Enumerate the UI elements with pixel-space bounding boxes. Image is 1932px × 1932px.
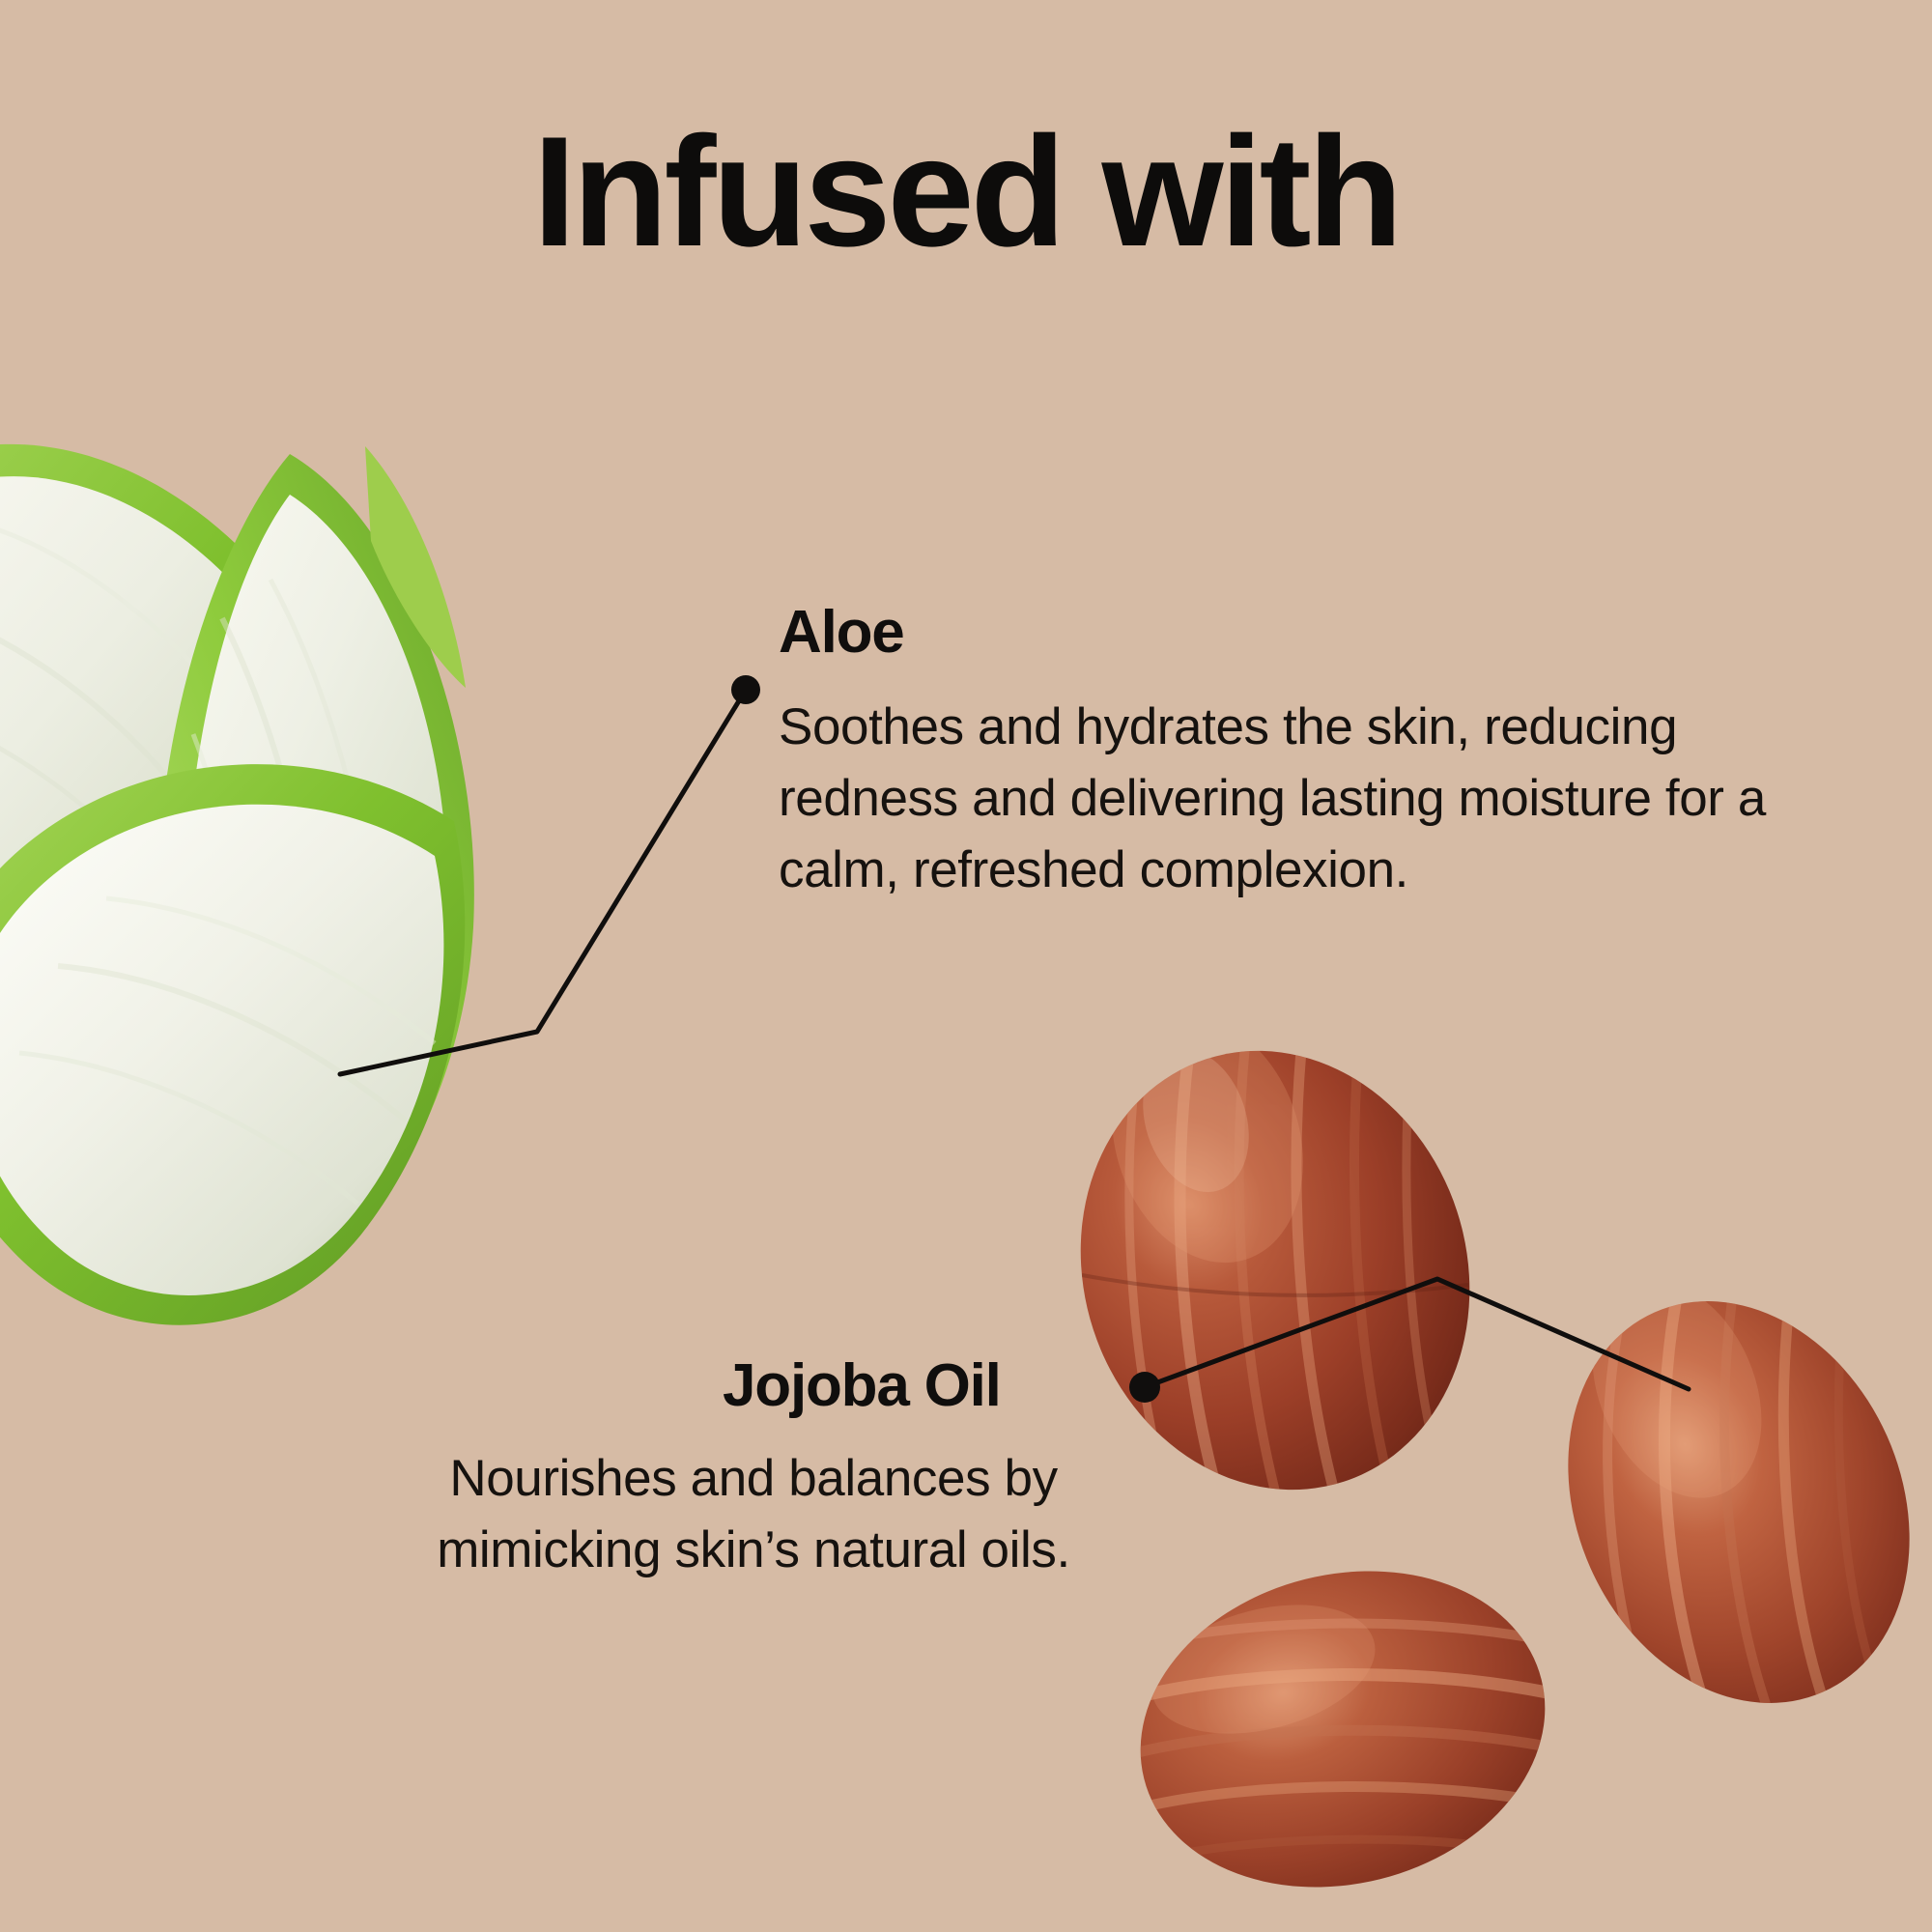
aloe-leader-polyline: [340, 690, 746, 1074]
aloe-leaf-3: [0, 764, 465, 1325]
jojoba-marker-dot-icon: [1129, 1372, 1160, 1403]
jojoba-seed-3: [1107, 1529, 1579, 1928]
ingredient-heading-aloe: Aloe: [779, 603, 904, 663]
ingredient-description-jojoba-oil: Nourishes and balances by mimicking skin…: [367, 1443, 1140, 1586]
jojoba-leader-polyline: [1145, 1279, 1689, 1389]
ingredient-artwork-layer: [0, 0, 1932, 1932]
ingredient-heading-jojoba-oil: Jojoba Oil: [723, 1356, 1001, 1416]
aloe-leaf-1: [0, 444, 378, 1112]
jojoba-seed-2: [1506, 1246, 1932, 1757]
ingredient-description-aloe: Soothes and hydrates the skin, reducing …: [779, 692, 1803, 907]
jojoba-leader-line: [1129, 1279, 1689, 1403]
aloe-marker-dot-icon: [731, 675, 760, 704]
page-title: Infused with: [0, 114, 1932, 270]
aloe-leader-line: [340, 675, 760, 1074]
aloe-leaves-image: [0, 444, 474, 1325]
jojoba-seeds-image: [1025, 992, 1932, 1929]
aloe-leaf-tip: [365, 446, 466, 688]
aloe-leaf-2: [157, 454, 474, 1285]
leader-lines-layer: [0, 0, 1932, 1932]
infographic-canvas: Infused with Aloe Soothes and hydrates t…: [0, 0, 1932, 1932]
